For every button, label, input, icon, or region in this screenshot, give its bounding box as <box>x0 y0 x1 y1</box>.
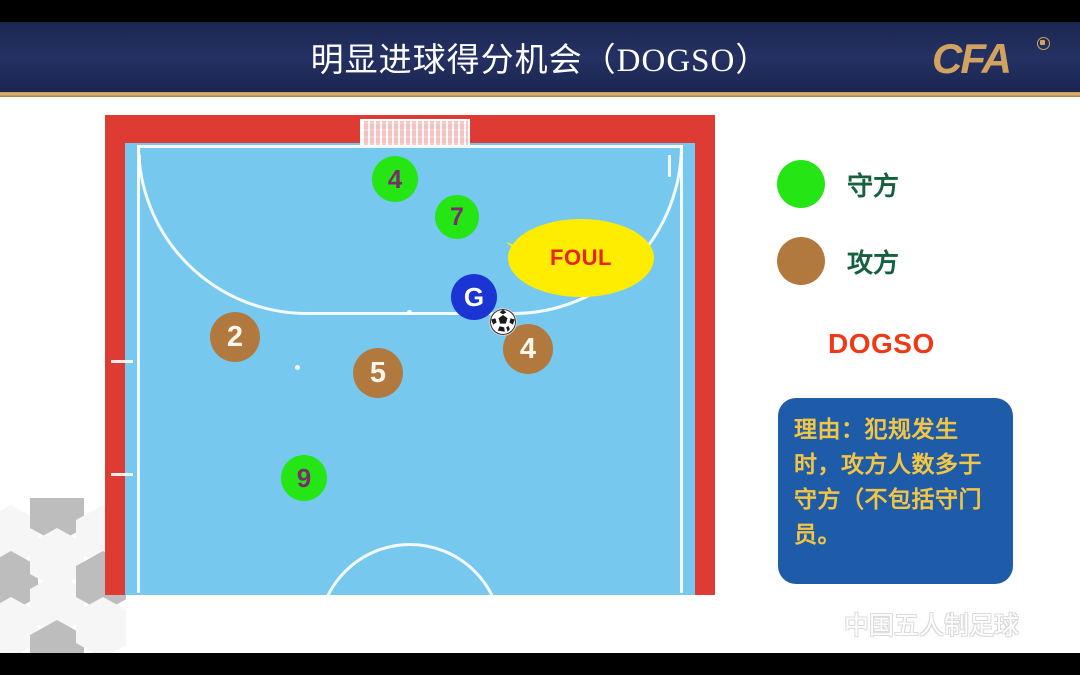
letterbox-top <box>0 0 1080 22</box>
legend-swatch-attacking <box>777 237 825 285</box>
penalty-spot <box>407 310 412 315</box>
football-ball <box>489 308 517 336</box>
player-marker-att-5: 5 <box>353 348 403 398</box>
player-number: G <box>464 284 484 310</box>
player-number: 9 <box>297 465 311 491</box>
watermark: 中国五人制足球 <box>800 606 1019 642</box>
player-number: 7 <box>450 205 464 230</box>
substitution-zone-tick-upper <box>111 360 133 363</box>
wechat-icon <box>800 608 836 641</box>
corner-tick-left <box>138 155 141 177</box>
cfa-logo: CFA <box>932 36 1052 84</box>
court-pitch <box>125 143 695 595</box>
sideline-right <box>680 145 683 593</box>
player-number: 4 <box>520 335 536 364</box>
player-marker-def-7: 7 <box>435 195 479 239</box>
sideline-left <box>137 145 140 593</box>
center-circle <box>317 543 503 595</box>
corner-tick-right <box>668 155 671 177</box>
foul-callout: FOUL <box>508 219 654 297</box>
slide-canvas: 明显进球得分机会（DOGSO） CFA <box>0 0 1080 675</box>
player-marker-def-9: 9 <box>281 455 327 501</box>
football-icon <box>1037 37 1050 50</box>
watermark-text: 中国五人制足球 <box>844 606 1019 642</box>
player-marker-def-4: 4 <box>372 156 418 202</box>
goal-net <box>360 119 470 145</box>
legend-label-attacking: 攻方 <box>847 243 899 280</box>
page-title: 明显进球得分机会（DOGSO） <box>0 22 1080 92</box>
verdict-label: DOGSO <box>828 328 935 360</box>
cfa-logo-text: CFA <box>932 36 1010 82</box>
letterbox-bottom <box>0 653 1080 675</box>
substitution-zone-tick-lower <box>111 473 133 476</box>
player-number: 2 <box>227 323 243 352</box>
legend-item-attacking: 攻方 <box>777 237 899 285</box>
player-number: 5 <box>370 359 386 388</box>
second-penalty-mark-left <box>295 365 300 370</box>
penalty-area-arc-left <box>137 143 477 315</box>
player-number: 4 <box>388 166 402 192</box>
header-gold-rule <box>0 92 1080 97</box>
player-marker-att-2: 2 <box>210 312 260 362</box>
legend-swatch-defending <box>777 160 825 208</box>
legend-label-defending: 守方 <box>847 166 899 203</box>
legend-item-defending: 守方 <box>777 160 899 208</box>
player-marker-gk-g: G <box>451 274 497 320</box>
reason-box: 理由：犯规发生时，攻方人数多于守方（不包括守门员。 <box>778 398 1013 584</box>
